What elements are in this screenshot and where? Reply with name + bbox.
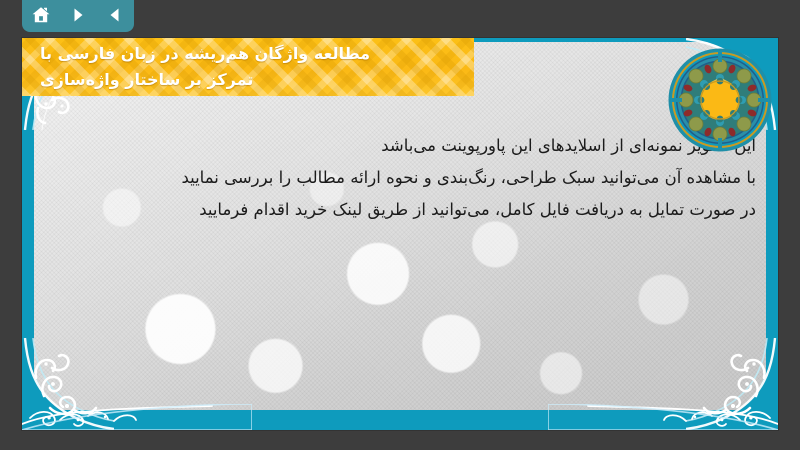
slide-viewer-screen: مطالعه واژگان هم‌ریشه در زبان فارسی با ت… <box>0 0 800 450</box>
back-arrow-icon <box>106 6 124 24</box>
slide-title-line-1: مطالعه واژگان هم‌ریشه در زبان فارسی با <box>40 41 370 67</box>
slide-canvas[interactable]: مطالعه واژگان هم‌ریشه در زبان فارسی با ت… <box>22 38 778 430</box>
navigation-toolbar <box>22 0 134 32</box>
home-icon <box>31 5 51 25</box>
slide-body-text: این تصویر نمونه‌ای از اسلایدهای این پاور… <box>44 130 756 226</box>
home-button[interactable] <box>28 2 54 28</box>
slide-texture <box>34 42 766 410</box>
back-button[interactable] <box>102 2 128 28</box>
forward-button[interactable] <box>65 2 91 28</box>
slide-title-line-2: تمرکز بر ساختار واژه‌سازی <box>40 67 253 93</box>
body-line-3: در صورت تمایل به دریافت فایل کامل، می‌تو… <box>44 194 756 226</box>
slide-title-banner: مطالعه واژگان هم‌ریشه در زبان فارسی با ت… <box>22 38 474 96</box>
body-line-2: با مشاهده آن می‌توانید سبک طراحی، رنگ‌بن… <box>44 162 756 194</box>
forward-arrow-icon <box>69 6 87 24</box>
body-line-1: این تصویر نمونه‌ای از اسلایدهای این پاور… <box>44 130 756 162</box>
slide-content-area <box>34 42 766 410</box>
